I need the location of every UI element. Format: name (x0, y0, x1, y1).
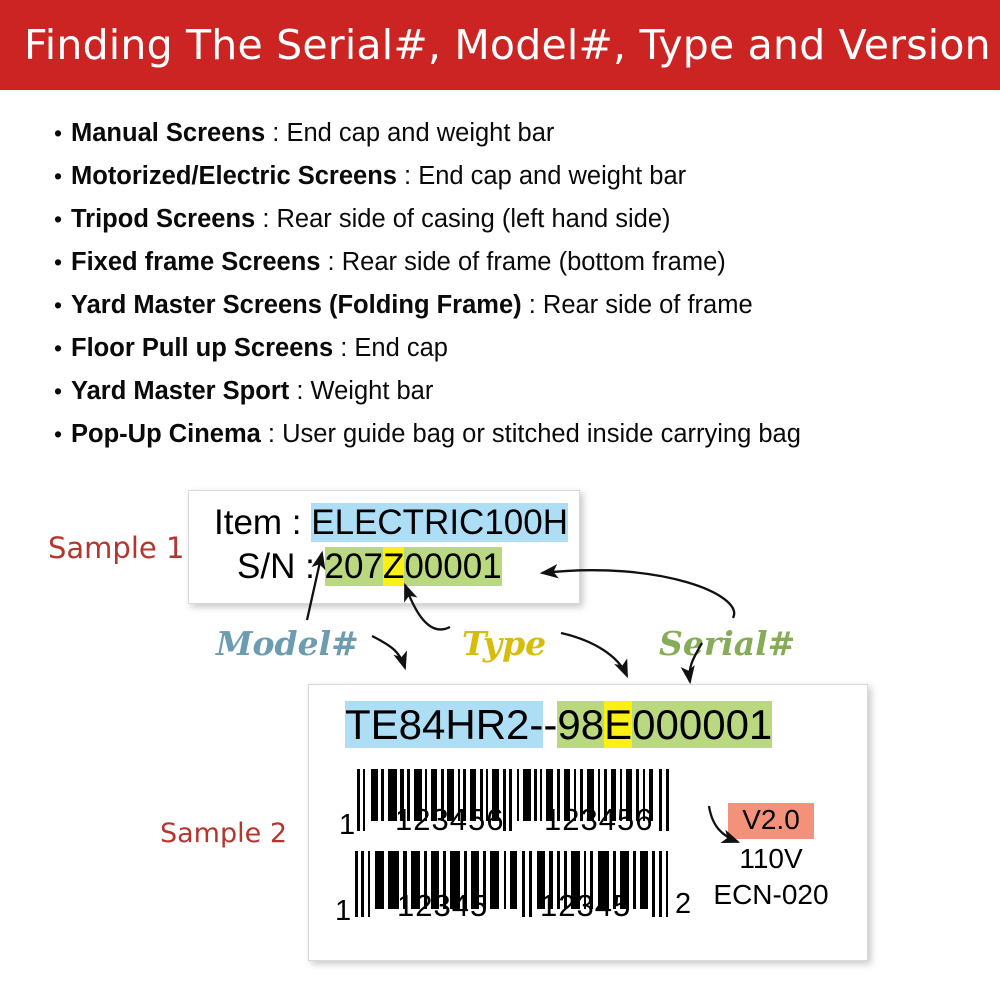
item-label: Item : (214, 503, 311, 542)
code-separator: - (543, 701, 557, 748)
bullet-icon: • (54, 241, 71, 284)
sn-serial-value: 207Z00001 (325, 547, 502, 586)
barcode-top-lead-digit: 1 (339, 809, 355, 842)
bullet-icon: • (54, 327, 71, 370)
list-item: •Yard Master Screens (Folding Frame) : R… (54, 284, 984, 327)
sample-1-serial-line: S/N : 207Z00001 (237, 547, 502, 587)
sn-prefix: 207 (325, 547, 383, 586)
list-item-separator: : (333, 334, 354, 362)
serial-suffix: 000001 (632, 701, 772, 748)
serial-prefix: 98 (557, 701, 604, 748)
list-item-separator: : (522, 291, 543, 319)
annotation-serial-label: Serial# (659, 624, 795, 663)
list-item-description: Weight bar (311, 377, 434, 405)
item-model-value: ELECTRIC100H (311, 503, 568, 542)
bullet-icon: • (54, 370, 71, 413)
list-item-term: Tripod Screens (71, 205, 255, 233)
list-item-separator: : (397, 162, 418, 190)
bullet-icon: • (54, 413, 71, 456)
list-item-separator: : (265, 119, 286, 147)
sample-1-item-line: Item : ELECTRIC100H (214, 503, 568, 543)
sample-1-caption: Sample 1 (48, 531, 184, 565)
list-item: •Manual Screens : End cap and weight bar (54, 112, 984, 155)
list-item-term: Manual Screens (71, 119, 265, 147)
annotation-model-label: Model# (216, 624, 359, 663)
sn-type-char: Z (383, 547, 404, 586)
list-item-description: Rear side of frame (543, 291, 753, 319)
list-item-separator: : (320, 248, 341, 276)
barcode-top-left-group: 123456 (395, 802, 504, 838)
sample-1-label-card: Item : ELECTRIC100H S/N : 207Z00001 (188, 490, 580, 604)
barcode-bottom-trail-digit: 2 (675, 888, 691, 921)
list-item-term: Yard Master Sport (71, 377, 289, 405)
list-item: •Motorized/Electric Screens : End cap an… (54, 155, 984, 198)
list-item-separator: : (255, 205, 276, 233)
barcode-bottom-lead-digit: 1 (335, 895, 351, 928)
list-item-term: Fixed frame Screens (71, 248, 320, 276)
list-item: •Pop-Up Cinema : User guide bag or stitc… (54, 413, 984, 456)
arrow-model-to-sample2 (372, 636, 405, 668)
list-item-description: End cap and weight bar (286, 119, 554, 147)
sn-label: S/N : (237, 547, 325, 586)
barcode-bottom-left-group: 12345 (397, 888, 488, 924)
list-item-separator: : (261, 420, 282, 448)
sample-2-caption: Sample 2 (160, 818, 287, 849)
ecn-value: ECN-020 (701, 879, 841, 911)
list-item: •Fixed frame Screens : Rear side of fram… (54, 241, 984, 284)
version-value: V2.0 (728, 803, 814, 839)
page-title: Finding The Serial#, Model#, Type and Ve… (24, 21, 991, 69)
barcode-bottom-right-group: 12345 (540, 888, 631, 924)
voltage-value: 110V (701, 843, 841, 875)
sample-2-label-card: TE84HR2--98E000001 1 (308, 684, 868, 961)
list-item-separator: : (289, 377, 310, 405)
list-item: •Floor Pull up Screens : End cap (54, 327, 984, 370)
list-item-description: Rear side of casing (left hand side) (277, 205, 671, 233)
arrow-type-to-sample2 (561, 633, 627, 676)
header-bar: Finding The Serial#, Model#, Type and Ve… (0, 0, 1000, 90)
barcode-top-right-group: 123456 (544, 802, 653, 838)
list-item-term: Motorized/Electric Screens (71, 162, 397, 190)
bullet-icon: • (54, 284, 71, 327)
list-item-description: End cap (354, 334, 448, 362)
list-item-term: Pop-Up Cinema (71, 420, 261, 448)
list-item: •Tripod Screens : Rear side of casing (l… (54, 198, 984, 241)
version-info-block: V2.0 110V ECN-020 (701, 803, 841, 911)
list-item-description: User guide bag or stitched inside carryi… (282, 420, 801, 448)
sample-2-code-line: TE84HR2--98E000001 (345, 701, 772, 749)
list-item: •Yard Master Sport : Weight bar (54, 370, 984, 413)
screen-type-list: •Manual Screens : End cap and weight bar… (54, 112, 984, 456)
bullet-icon: • (54, 112, 71, 155)
list-item-term: Yard Master Screens (Folding Frame) (71, 291, 522, 319)
list-item-term: Floor Pull up Screens (71, 334, 333, 362)
bullet-icon: • (54, 198, 71, 241)
bullet-icon: • (54, 155, 71, 198)
code-model-part: TE84HR2- (345, 701, 543, 748)
code-serial-part: 98E000001 (557, 701, 772, 748)
list-item-description: Rear side of frame (bottom frame) (342, 248, 726, 276)
annotation-type-label: Type (462, 624, 546, 663)
list-item-description: End cap and weight bar (418, 162, 686, 190)
serial-type-char: E (604, 701, 632, 748)
sn-suffix: 00001 (404, 547, 501, 586)
